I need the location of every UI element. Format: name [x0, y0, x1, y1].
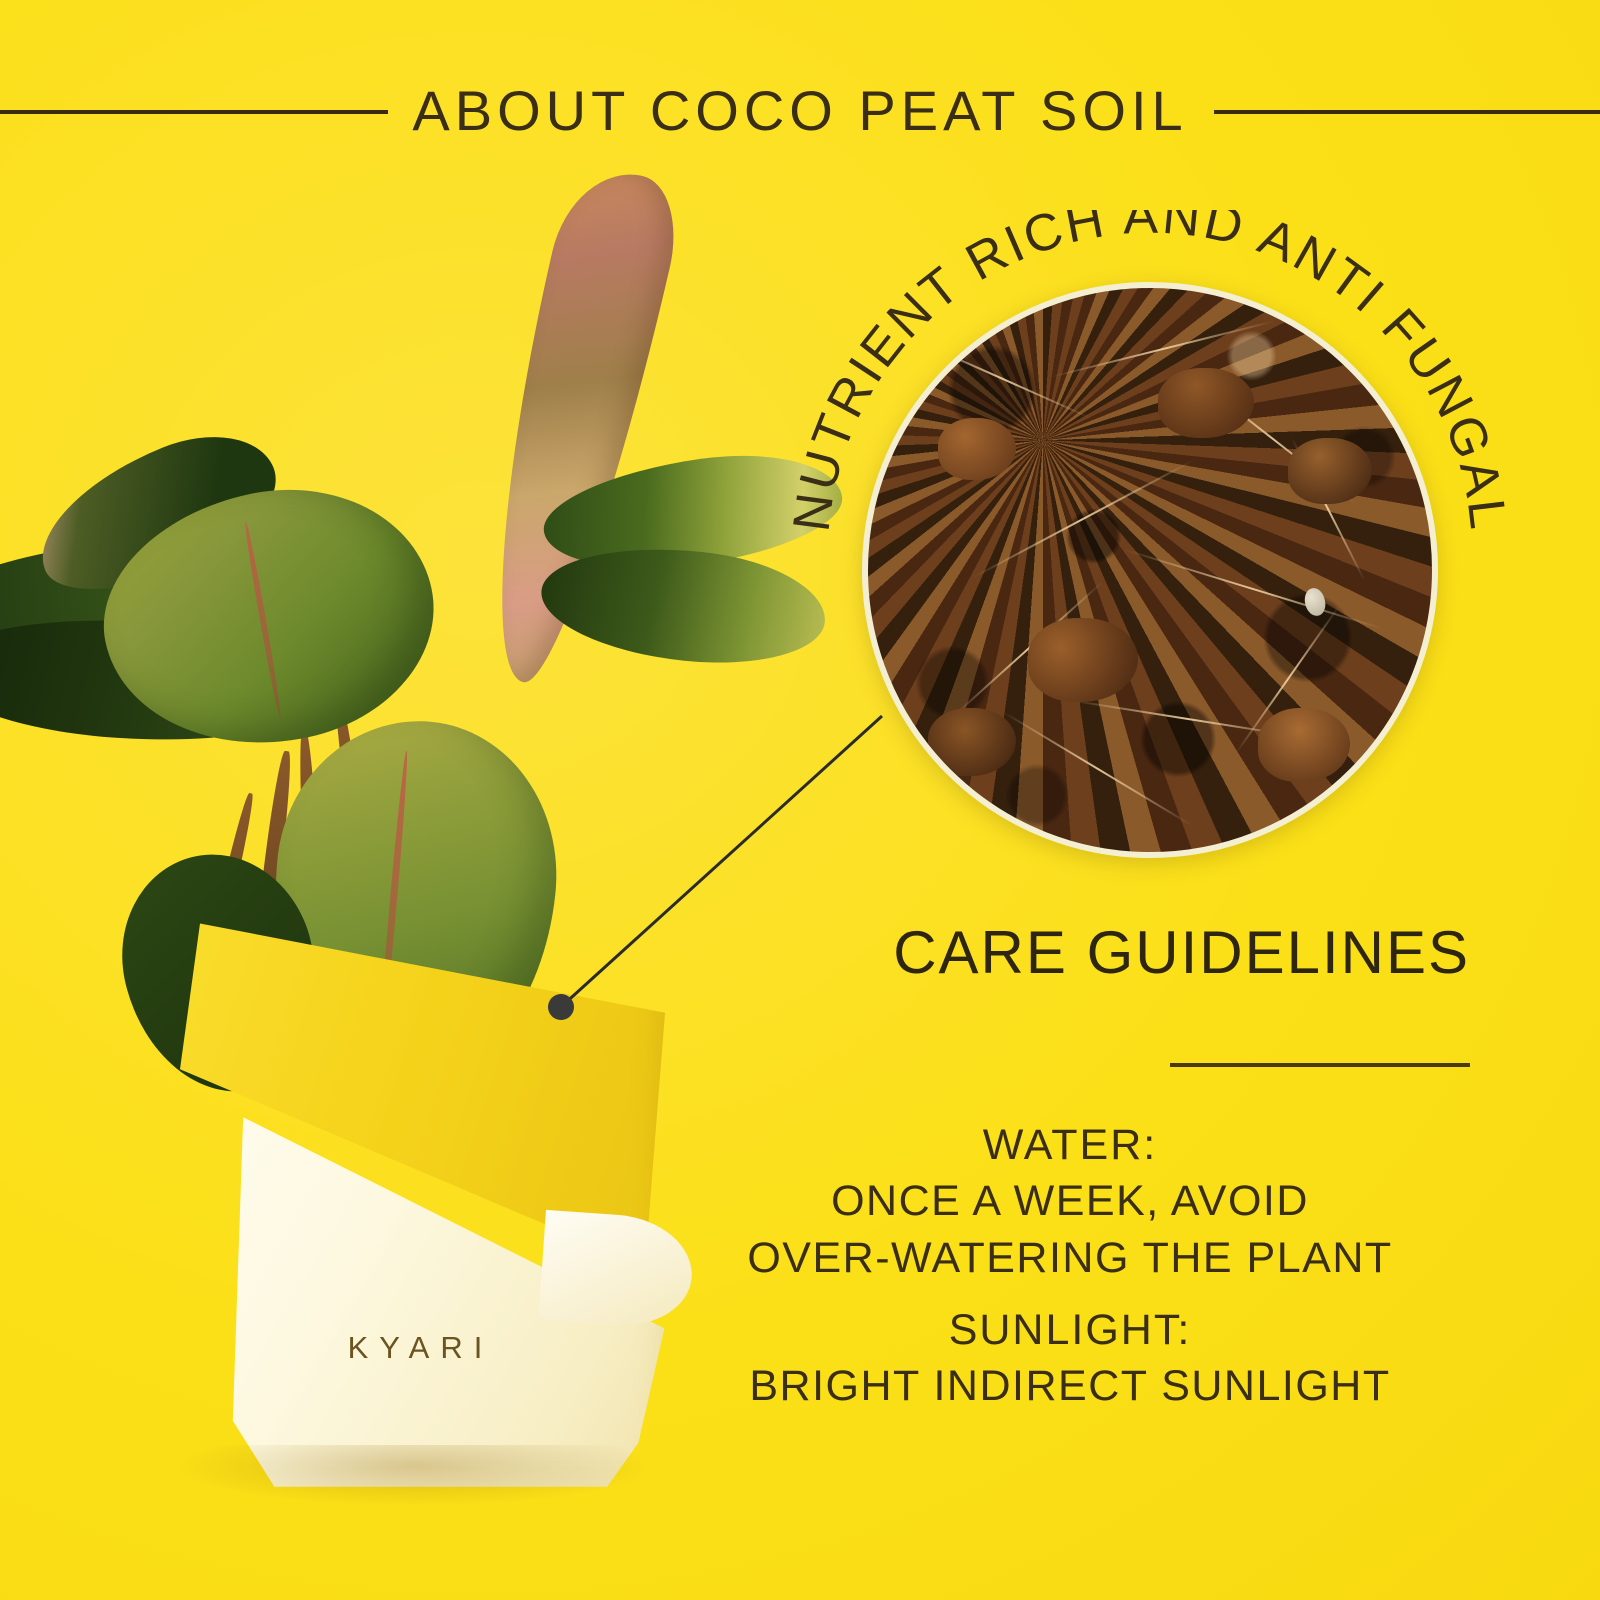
- care-item-sunlight-label: SUNLIGHT:: [670, 1303, 1470, 1358]
- care-guidelines-heading: CARE GUIDELINES: [770, 918, 1470, 987]
- soil-curved-caption: NUTRIENT RICH AND ANTI FUNGAL: [790, 210, 1510, 930]
- care-item-water-line-2: OVER-WATERING THE PLANT: [670, 1230, 1470, 1287]
- care-item-sunlight: SUNLIGHT: BRIGHT INDIRECT SUNLIGHT: [670, 1303, 1470, 1415]
- care-guidelines-divider: [1170, 1063, 1470, 1067]
- plant-pot: KYARI: [150, 900, 680, 1510]
- pot-ground-shadow: [180, 1445, 650, 1505]
- brand-logo: KYARI: [150, 1330, 680, 1366]
- infographic-canvas: ABOUT COCO PEAT SOIL KYARI: [0, 0, 1600, 1600]
- care-item-water-line-1: ONCE A WEEK, AVOID: [670, 1173, 1470, 1230]
- soil-caption-label: NUTRIENT RICH AND ANTI FUNGAL: [790, 210, 1510, 535]
- page-title: ABOUT COCO PEAT SOIL: [0, 79, 1600, 143]
- soil-caption-text: NUTRIENT RICH AND ANTI FUNGAL: [790, 210, 1510, 535]
- care-item-sunlight-line-1: BRIGHT INDIRECT SUNLIGHT: [670, 1358, 1470, 1415]
- care-item-water: WATER: ONCE A WEEK, AVOID OVER-WATERING …: [670, 1118, 1470, 1287]
- care-item-water-label: WATER:: [670, 1118, 1470, 1173]
